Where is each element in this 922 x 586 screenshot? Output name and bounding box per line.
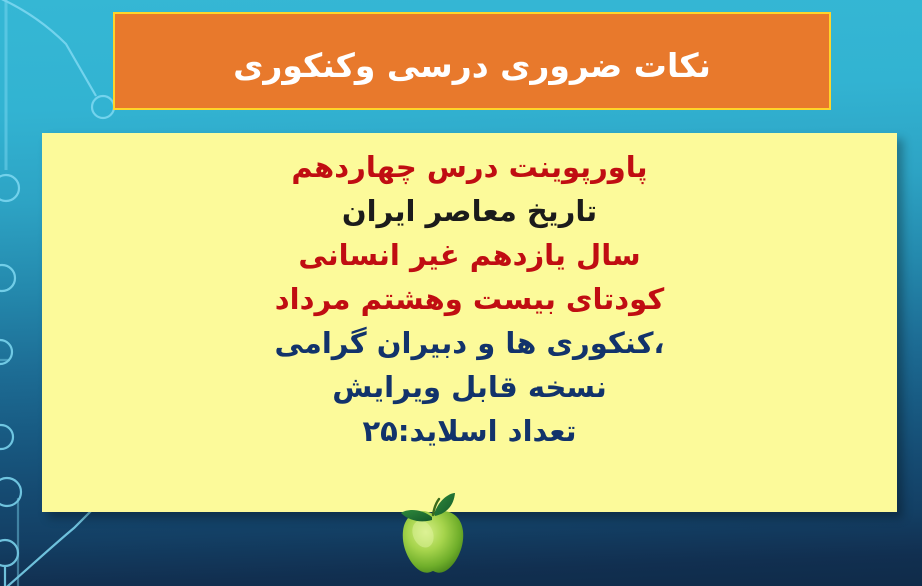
page-title: نکات ضروری درسی وکنکوری [233, 37, 711, 85]
content-line-2: تاریخ معاصر ایران [42, 189, 897, 233]
content-line-1: پاورپوینت درس چهاردهم [42, 145, 897, 189]
content-line-5: ،کنکوری ها و دبیران گرامی [42, 321, 897, 365]
slide-title-banner: نکات ضروری درسی وکنکوری [113, 12, 831, 110]
apple-icon [392, 492, 474, 576]
slide-count-line: تعداد اسلاید:۲۵ [42, 409, 897, 453]
content-card: پاورپوینت درس چهاردهم تاریخ معاصر ایران … [42, 133, 897, 512]
content-text-block: پاورپوینت درس چهاردهم تاریخ معاصر ایران … [42, 145, 897, 454]
content-line-3: سال یازدهم غیر انسانی [42, 233, 897, 277]
content-line-4: کودتای بیست وهشتم مرداد [42, 277, 897, 321]
content-line-6: نسخه قابل ویرایش [42, 365, 897, 409]
presentation-slide: نکات ضروری درسی وکنکوری پاورپوینت درس چه… [0, 0, 922, 586]
